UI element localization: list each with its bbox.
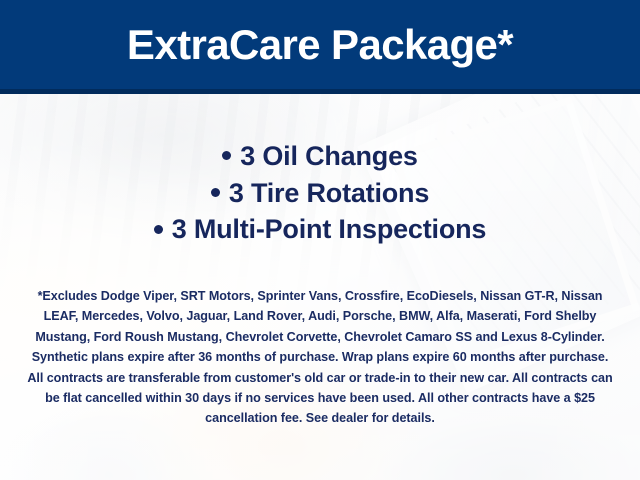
benefit-item-tire-rotations: 3 Tire Rotations [0,175,640,212]
extracare-package-promo: ExtraCare Package* 3 Oil Changes 3 Tire … [0,0,640,480]
bullet-dot-icon [222,151,231,160]
benefits-list: 3 Oil Changes 3 Tire Rotations 3 Multi-P… [0,138,640,248]
bullet-dot-icon [211,188,220,197]
legal-disclaimer: *Excludes Dodge Viper, SRT Motors, Sprin… [26,286,614,429]
benefit-label: 3 Tire Rotations [229,178,429,208]
bullet-dot-icon [154,225,163,234]
benefit-item-oil-changes: 3 Oil Changes [0,138,640,175]
header-band: ExtraCare Package* [0,0,640,94]
benefit-item-multi-point-inspections: 3 Multi-Point Inspections [0,211,640,248]
page-title: ExtraCare Package* [0,0,640,89]
legal-disclaimer-text: *Excludes Dodge Viper, SRT Motors, Sprin… [26,286,614,429]
benefit-label: 3 Oil Changes [240,141,417,171]
benefit-label: 3 Multi-Point Inspections [172,214,487,244]
header-divider-rule [0,89,640,94]
